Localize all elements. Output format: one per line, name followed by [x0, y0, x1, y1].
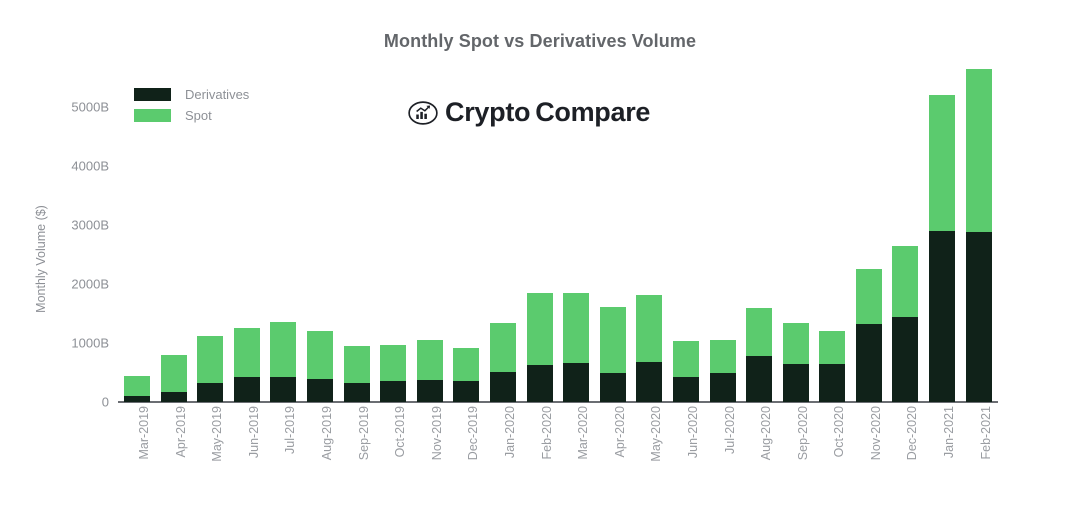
x-axis-tick-label: Sep-2019 [357, 406, 371, 460]
bar-segment-derivatives[interactable] [819, 364, 845, 402]
y-axis-tick-label: 0 [102, 395, 109, 410]
bar-segment-derivatives[interactable] [636, 362, 662, 402]
bar-column[interactable]: Sep-2019 [344, 60, 370, 402]
y-axis-tick-label: 4000B [71, 159, 109, 174]
bar-segment-derivatives[interactable] [600, 373, 626, 402]
bar-segment-derivatives[interactable] [417, 380, 443, 402]
x-axis-tick-label: Feb-2020 [540, 406, 554, 460]
bar-column[interactable]: Mar-2020 [563, 60, 589, 402]
bar-column[interactable]: Dec-2020 [892, 60, 918, 402]
bar-column[interactable]: Oct-2020 [819, 60, 845, 402]
bar-column[interactable]: Apr-2019 [161, 60, 187, 402]
bar-segment-derivatives[interactable] [892, 317, 918, 403]
y-axis-title: Monthly Volume ($) [34, 179, 48, 339]
bar-segment-derivatives[interactable] [673, 377, 699, 402]
bar-segment-derivatives[interactable] [307, 379, 333, 402]
y-axis-tick-label: 5000B [71, 100, 109, 115]
bar-segment-derivatives[interactable] [380, 381, 406, 402]
bar-segment-derivatives[interactable] [856, 324, 882, 402]
bar-segment-spot[interactable] [527, 293, 553, 366]
y-axis-tick-label: 1000B [71, 336, 109, 351]
bar-segment-spot[interactable] [197, 336, 223, 383]
bar-segment-derivatives[interactable] [746, 356, 772, 402]
bar-column[interactable]: Mar-2019 [124, 60, 150, 402]
x-axis-tick-label: Jan-2020 [503, 406, 517, 458]
x-axis-tick-label: Nov-2019 [430, 406, 444, 460]
bar-column[interactable]: Jul-2020 [710, 60, 736, 402]
bar-segment-derivatives[interactable] [197, 383, 223, 402]
bar-segment-derivatives[interactable] [124, 396, 150, 402]
bar-column[interactable]: Jun-2020 [673, 60, 699, 402]
x-axis-tick-label: Feb-2021 [979, 406, 993, 460]
bar-segment-spot[interactable] [636, 295, 662, 362]
bar-segment-spot[interactable] [344, 346, 370, 383]
bar-segment-derivatives[interactable] [490, 372, 516, 402]
bar-segment-derivatives[interactable] [929, 231, 955, 402]
x-axis-tick-label: Sep-2020 [796, 406, 810, 460]
x-axis-tick-label: Jun-2020 [686, 406, 700, 458]
bar-column[interactable]: Oct-2019 [380, 60, 406, 402]
bar-segment-spot[interactable] [490, 323, 516, 372]
x-axis-tick-label: May-2020 [649, 406, 663, 462]
bar-column[interactable]: Aug-2019 [307, 60, 333, 402]
chart-container: Monthly Spot vs Derivatives Volume Deriv… [0, 0, 1080, 507]
bar-segment-derivatives[interactable] [710, 373, 736, 402]
bar-segment-spot[interactable] [892, 246, 918, 317]
bar-segment-spot[interactable] [929, 95, 955, 231]
bar-column[interactable]: May-2020 [636, 60, 662, 402]
bar-column[interactable]: Dec-2019 [453, 60, 479, 402]
chart-title: Monthly Spot vs Derivatives Volume [0, 31, 1080, 52]
x-axis-tick-label: Oct-2019 [393, 406, 407, 457]
x-axis-tick-label: Jan-2021 [942, 406, 956, 458]
bar-segment-derivatives[interactable] [234, 377, 260, 402]
x-axis-tick-label: Jul-2019 [283, 406, 297, 454]
x-axis-tick-label: Apr-2019 [174, 406, 188, 457]
x-axis-tick-label: Mar-2020 [576, 406, 590, 460]
bar-segment-derivatives[interactable] [966, 232, 992, 402]
bar-segment-spot[interactable] [563, 293, 589, 363]
bar-segment-spot[interactable] [161, 355, 187, 392]
plot-area: 01000B2000B3000B4000B5000B Mar-2019Apr-2… [118, 60, 998, 402]
x-axis-tick-label: Apr-2020 [613, 406, 627, 457]
bar-segment-spot[interactable] [600, 307, 626, 372]
bar-segment-derivatives[interactable] [161, 392, 187, 402]
bar-column[interactable]: Aug-2020 [746, 60, 772, 402]
bar-segment-spot[interactable] [234, 328, 260, 377]
x-axis-tick-label: Dec-2020 [905, 406, 919, 460]
y-axis-tick-label: 2000B [71, 277, 109, 292]
bar-column[interactable]: Feb-2021 [966, 60, 992, 402]
bar-segment-derivatives[interactable] [344, 383, 370, 402]
x-axis-tick-label: Dec-2019 [466, 406, 480, 460]
bar-segment-spot[interactable] [453, 348, 479, 382]
bar-segment-spot[interactable] [819, 331, 845, 364]
x-axis-tick-label: Nov-2020 [869, 406, 883, 460]
x-axis-tick-label: Jun-2019 [247, 406, 261, 458]
bar-column[interactable]: Apr-2020 [600, 60, 626, 402]
bar-column[interactable]: Sep-2020 [783, 60, 809, 402]
bar-segment-spot[interactable] [710, 340, 736, 373]
bar-column[interactable]: May-2019 [197, 60, 223, 402]
bar-segment-spot[interactable] [966, 69, 992, 232]
bar-column[interactable]: Jun-2019 [234, 60, 260, 402]
bar-column[interactable]: Jul-2019 [270, 60, 296, 402]
bar-segment-spot[interactable] [380, 345, 406, 380]
x-axis-tick-label: Aug-2019 [320, 406, 334, 460]
bar-column[interactable]: Jan-2021 [929, 60, 955, 402]
x-axis-tick-label: Jul-2020 [723, 406, 737, 454]
bar-segment-derivatives[interactable] [563, 363, 589, 402]
x-axis-tick-label: Mar-2019 [137, 406, 151, 460]
bar-column[interactable]: Nov-2020 [856, 60, 882, 402]
x-axis-tick-label: Oct-2020 [832, 406, 846, 457]
y-axis-tick-label: 3000B [71, 218, 109, 233]
bar-segment-derivatives[interactable] [270, 377, 296, 402]
bar-segment-derivatives[interactable] [453, 381, 479, 402]
bar-segment-derivatives[interactable] [527, 365, 553, 402]
bar-segment-spot[interactable] [124, 376, 150, 396]
bar-segment-spot[interactable] [417, 340, 443, 381]
bar-segment-spot[interactable] [746, 308, 772, 356]
bar-segment-spot[interactable] [856, 269, 882, 324]
bar-segment-derivatives[interactable] [783, 364, 809, 402]
bar-column[interactable]: Nov-2019 [417, 60, 443, 402]
bar-segment-spot[interactable] [673, 341, 699, 377]
bar-series-group: Mar-2019Apr-2019May-2019Jun-2019Jul-2019… [118, 60, 998, 402]
bar-segment-spot[interactable] [783, 323, 809, 364]
bar-column[interactable]: Jan-2020 [490, 60, 516, 402]
bar-column[interactable]: Feb-2020 [527, 60, 553, 402]
bar-segment-spot[interactable] [307, 331, 333, 379]
bar-segment-spot[interactable] [270, 322, 296, 377]
x-axis-tick-label: Aug-2020 [759, 406, 773, 460]
x-axis-tick-label: May-2019 [210, 406, 224, 462]
